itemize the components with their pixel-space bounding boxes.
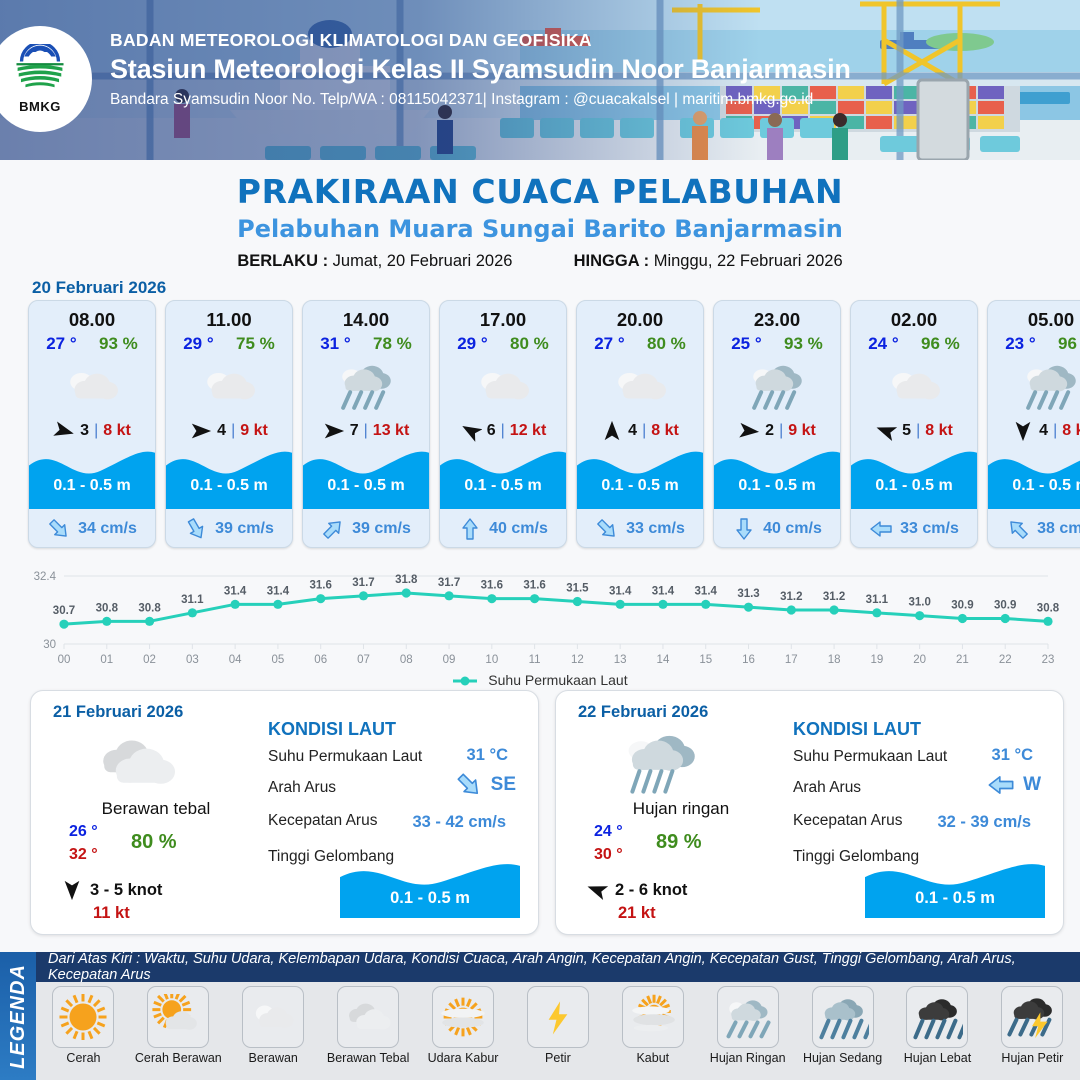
card-temperature: 25 °: [731, 334, 761, 354]
wind-direction-arrow: [1012, 420, 1034, 442]
card-humidity: 96 %: [1058, 334, 1080, 354]
card-wind: 3 | 8 kt: [29, 420, 155, 442]
svg-text:30: 30: [43, 639, 56, 651]
legend-strip: LEGENDA Dari Atas Kiri : Waktu, Suhu Uda…: [0, 952, 1080, 1080]
svg-text:31.4: 31.4: [652, 585, 675, 597]
svg-text:15: 15: [699, 654, 712, 666]
card-humidity: 93 %: [99, 334, 138, 354]
wave-graphic: [988, 443, 1080, 509]
card-wave-height: 0.1 - 0.5 m: [851, 477, 977, 495]
hourly-card: 05.00 23 ° 96 % 4 | 8 kt 0.1 - 0.5 m: [987, 300, 1080, 548]
card-current-speed: 34 cm/s: [78, 520, 137, 538]
current-direction-arrow: [458, 517, 482, 541]
panel-temp-min: 24 °: [594, 823, 623, 841]
card-wind: 6 | 12 kt: [440, 420, 566, 442]
validity-dates: BERLAKU : Jumat, 20 Februari 2026 HINGGA…: [0, 252, 1080, 271]
card-wind: 4 | 8 kt: [577, 420, 703, 442]
card-current: 39 cm/s: [166, 517, 292, 541]
card-current: 33 cm/s: [577, 517, 703, 541]
card-current-speed: 40 cm/s: [489, 520, 548, 538]
card-current: 34 cm/s: [29, 517, 155, 541]
wind-direction-arrow: [586, 879, 608, 901]
panel-wave-graphic: [865, 856, 1045, 918]
legend-item: Berawan: [226, 986, 321, 1066]
current-direction-arrow: [732, 517, 756, 541]
hourly-card: 14.00 31 ° 78 % 7 | 13 kt 0.1 - 0.5 m: [302, 300, 430, 548]
card-wind-speed: 2: [765, 422, 774, 440]
berlaku-label: BERLAKU :: [237, 252, 328, 270]
svg-text:31.6: 31.6: [481, 580, 503, 592]
panel-wave-height: 0.1 - 0.5 m: [865, 889, 1045, 908]
card-weather-icon: [440, 358, 566, 414]
card-current-speed: 39 cm/s: [215, 520, 274, 538]
svg-text:12: 12: [571, 654, 584, 666]
legend-icon-box: [812, 986, 874, 1048]
card-gust: 9 kt: [788, 422, 816, 440]
card-time: 14.00: [303, 309, 429, 331]
legend-side-text: LEGENDA: [7, 964, 30, 1069]
svg-text:07: 07: [357, 654, 370, 666]
weather-icon-cerah: [57, 994, 109, 1040]
card-weather-icon: [166, 358, 292, 414]
svg-text:02: 02: [143, 654, 156, 666]
legend-icon-box: [432, 986, 494, 1048]
current-direction-arrow: [595, 517, 619, 541]
hourly-card: 08.00 27 ° 93 % 3 | 8 kt 0.1 - 0.5 m: [28, 300, 156, 548]
svg-text:31.1: 31.1: [181, 594, 204, 606]
svg-text:04: 04: [229, 654, 242, 666]
panel-sea-title: KONDISI LAUT: [793, 719, 921, 740]
weather-icon-berawan: [247, 994, 299, 1040]
card-time: 05.00: [988, 309, 1080, 331]
hourly-card: 20.00 27 ° 80 % 4 | 8 kt 0.1 - 0.5 m: [576, 300, 704, 548]
wave-graphic: [340, 856, 520, 918]
wind-direction-arrow: [875, 420, 897, 442]
svg-text:31.2: 31.2: [823, 591, 845, 603]
hourly-card: 23.00 25 ° 93 % 2 | 9 kt 0.1 - 0.5 m: [713, 300, 841, 548]
card-wave-graphic: [714, 443, 840, 509]
card-gust: 8 kt: [1062, 422, 1080, 440]
card-wave-height: 0.1 - 0.5 m: [166, 477, 292, 495]
card-current: 40 cm/s: [714, 517, 840, 541]
svg-text:13: 13: [614, 654, 627, 666]
svg-text:31.3: 31.3: [737, 588, 759, 600]
card-temperature: 27 °: [46, 334, 76, 354]
panel-label-sst: Suhu Permukaan Laut: [268, 748, 422, 766]
svg-text:09: 09: [443, 654, 456, 666]
panel-current-speed-value: 33 - 42 cm/s: [412, 813, 506, 832]
card-weather-icon: [303, 358, 429, 414]
card-wind: 5 | 8 kt: [851, 420, 977, 442]
card-current: 39 cm/s: [303, 517, 429, 541]
wind-direction-arrow: [323, 420, 345, 442]
panel-condition: Hujan ringan: [556, 799, 806, 819]
svg-text:30.8: 30.8: [96, 602, 119, 614]
card-separator: |: [1053, 422, 1057, 440]
hourly-card: 11.00 29 ° 75 % 4 | 9 kt 0.1 - 0.5 m: [165, 300, 293, 548]
card-separator: |: [364, 422, 368, 440]
svg-text:08: 08: [400, 654, 413, 666]
wind-direction-arrow: [61, 879, 83, 901]
card-wave-height: 0.1 - 0.5 m: [714, 477, 840, 495]
card-current-speed: 38 cm/s: [1037, 520, 1080, 538]
contact-info: Bandara Syamsudin Noor No. Telp/WA : 081…: [110, 91, 851, 109]
svg-text:19: 19: [870, 654, 883, 666]
daily-panel: 21 Februari 2026 Berawan tebal 26 ° 32 °…: [30, 690, 539, 935]
card-separator: |: [231, 422, 235, 440]
card-wind-speed: 7: [350, 422, 359, 440]
panel-sea-title: KONDISI LAUT: [268, 719, 396, 740]
weather-icon-hujan-lebat: [911, 994, 963, 1040]
card-wave-height: 0.1 - 0.5 m: [440, 477, 566, 495]
legend-item-label: Cerah Berawan: [135, 1052, 222, 1066]
card-temperature: 23 °: [1005, 334, 1035, 354]
panel-wave-height: 0.1 - 0.5 m: [340, 889, 520, 908]
card-time: 08.00: [29, 309, 155, 331]
current-direction-arrow: [47, 517, 71, 541]
svg-text:31.4: 31.4: [224, 585, 247, 597]
legend-item: Hujan Ringan: [700, 986, 795, 1066]
current-direction-arrow: [1006, 517, 1030, 541]
legend-icon-box: [1001, 986, 1063, 1048]
legend-icon-box: [622, 986, 684, 1048]
legend-icon-box: [527, 986, 589, 1048]
current-direction-arrow: [455, 771, 483, 799]
legend-icon-box: [147, 986, 209, 1048]
card-humidity: 93 %: [784, 334, 823, 354]
legend-icon-box: [52, 986, 114, 1048]
panel-wind-range: 2 - 6 knot: [615, 881, 687, 900]
card-current-speed: 33 cm/s: [900, 520, 959, 538]
legend-icon-box: [337, 986, 399, 1048]
svg-text:22: 22: [999, 654, 1012, 666]
weather-icon-hujan-ringan: [722, 994, 774, 1040]
sst-chart-svg: 32.43030.70030.80130.80231.10331.40431.4…: [14, 558, 1066, 678]
card-wave-graphic: [988, 443, 1080, 509]
card-gust: 9 kt: [240, 422, 268, 440]
hourly-card: 17.00 29 ° 80 % 6 | 12 kt 0.1 - 0.5 m: [439, 300, 567, 548]
svg-text:30.7: 30.7: [53, 605, 75, 617]
svg-text:01: 01: [100, 654, 113, 666]
svg-text:30.9: 30.9: [994, 600, 1016, 612]
weather-icon-berawan: [196, 360, 262, 412]
svg-text:17: 17: [785, 654, 798, 666]
card-wave-graphic: [577, 443, 703, 509]
card-time: 17.00: [440, 309, 566, 331]
card-temperature: 29 °: [183, 334, 213, 354]
card-humidity: 96 %: [921, 334, 960, 354]
legend-item-label: Udara Kabur: [428, 1052, 499, 1066]
wind-direction-arrow: [190, 420, 212, 442]
card-wave-height: 0.1 - 0.5 m: [988, 477, 1080, 495]
weather-icon-hujan-sedang: [817, 994, 869, 1040]
svg-text:30.9: 30.9: [951, 600, 973, 612]
card-separator: |: [916, 422, 920, 440]
legend-side-label: LEGENDA: [0, 952, 36, 1080]
svg-text:31.7: 31.7: [352, 577, 374, 589]
bmkg-logo-text: BMKG: [19, 99, 61, 114]
wave-graphic: [166, 443, 293, 509]
card-wave-height: 0.1 - 0.5 m: [29, 477, 155, 495]
svg-text:23: 23: [1042, 654, 1055, 666]
current-direction-arrow: [869, 517, 893, 541]
wind-direction-arrow: [601, 420, 623, 442]
legend-icon-box: [242, 986, 304, 1048]
weather-icon-berawan-tebal: [91, 729, 181, 797]
card-wave-height: 0.1 - 0.5 m: [303, 477, 429, 495]
card-wind-speed: 5: [902, 422, 911, 440]
current-direction-arrow: [321, 517, 345, 541]
svg-text:11: 11: [529, 654, 541, 666]
daily-panels: 21 Februari 2026 Berawan tebal 26 ° 32 °…: [30, 690, 1064, 935]
svg-text:18: 18: [828, 654, 841, 666]
page-subtitle: Pelabuhan Muara Sungai Barito Banjarmasi…: [0, 215, 1080, 243]
svg-text:31.4: 31.4: [695, 585, 718, 597]
weather-icon-hujan-ringan: [616, 729, 706, 797]
wave-graphic: [851, 443, 978, 509]
svg-text:31.6: 31.6: [310, 580, 332, 592]
agency-name: BADAN METEOROLOGI KLIMATOLOGI DAN GEOFIS…: [110, 30, 851, 51]
svg-text:30.8: 30.8: [138, 602, 161, 614]
card-current: 40 cm/s: [440, 517, 566, 541]
panel-current-dir-label: SE: [491, 774, 516, 796]
page-title: PRAKIRAAN CUACA PELABUHAN: [0, 172, 1080, 211]
panel-gust: 11 kt: [93, 904, 130, 923]
legend-item: Hujan Petir: [985, 986, 1080, 1066]
legend-item-label: Hujan Sedang: [803, 1052, 882, 1066]
page-header: BMKG BADAN METEOROLOGI KLIMATOLOGI DAN G…: [0, 0, 1080, 160]
card-temperature: 31 °: [320, 334, 350, 354]
card-current-speed: 39 cm/s: [352, 520, 411, 538]
svg-text:20: 20: [913, 654, 926, 666]
panel-temp-max: 30 °: [594, 846, 623, 864]
berlaku-value: Jumat, 20 Februari 2026: [333, 252, 513, 270]
card-humidity: 75 %: [236, 334, 275, 354]
card-current: 33 cm/s: [851, 517, 977, 541]
svg-text:31.2: 31.2: [780, 591, 802, 603]
weather-icon-berawan: [881, 360, 947, 412]
panel-current-dir-label: W: [1023, 774, 1041, 796]
legend-item: Berawan Tebal: [321, 986, 416, 1066]
card-wind: 4 | 8 kt: [988, 420, 1080, 442]
wave-graphic: [29, 443, 156, 509]
panel-humidity: 80 %: [131, 831, 177, 854]
panel-date: 21 Februari 2026: [53, 703, 183, 722]
card-temperature: 24 °: [868, 334, 898, 354]
svg-text:31.4: 31.4: [609, 585, 632, 597]
weather-icon-berawan: [607, 360, 673, 412]
svg-text:06: 06: [314, 654, 327, 666]
svg-text:30.8: 30.8: [1037, 602, 1060, 614]
card-separator: |: [501, 422, 505, 440]
legend-item-label: Hujan Petir: [1001, 1052, 1063, 1066]
card-separator: |: [94, 422, 98, 440]
chart-legend-label: Suhu Permukaan Laut: [488, 672, 627, 688]
hourly-card: 02.00 24 ° 96 % 5 | 8 kt 0.1 - 0.5 m: [850, 300, 978, 548]
weather-icon-udara-kabur: [437, 994, 489, 1040]
panel-label-current-speed: Kecepatan Arus: [793, 812, 902, 830]
panel-temp-max: 32 °: [69, 846, 98, 864]
svg-text:16: 16: [742, 654, 755, 666]
wave-graphic: [714, 443, 841, 509]
chart-legend-swatch: [452, 675, 478, 687]
card-gust: 12 kt: [510, 422, 546, 440]
legend-item-label: Kabut: [636, 1052, 669, 1066]
card-wind-speed: 4: [1039, 422, 1048, 440]
card-wind-speed: 6: [487, 422, 496, 440]
wave-graphic: [303, 443, 430, 509]
card-wave-height: 0.1 - 0.5 m: [577, 477, 703, 495]
wind-direction-arrow: [460, 420, 482, 442]
weather-icon-hujan-ringan: [1018, 360, 1080, 412]
wind-direction-arrow: [738, 420, 760, 442]
card-separator: |: [779, 422, 783, 440]
current-direction-arrow: [987, 771, 1015, 799]
panel-current-speed-value: 32 - 39 cm/s: [937, 813, 1031, 832]
card-separator: |: [642, 422, 646, 440]
hingga-label: HINGGA :: [574, 252, 649, 270]
card-wind: 7 | 13 kt: [303, 420, 429, 442]
hingga-value: Minggu, 22 Februari 2026: [654, 252, 843, 270]
card-wave-graphic: [851, 443, 977, 509]
card-wind-speed: 4: [217, 422, 226, 440]
card-weather-icon: [851, 358, 977, 414]
card-weather-icon: [988, 358, 1080, 414]
svg-text:21: 21: [956, 654, 969, 666]
card-time: 23.00: [714, 309, 840, 331]
weather-icon-petir: [532, 994, 584, 1040]
card-weather-icon: [714, 358, 840, 414]
card-wind-speed: 4: [628, 422, 637, 440]
legend-item-label: Hujan Ringan: [710, 1052, 786, 1066]
panel-gust: 21 kt: [618, 904, 656, 923]
card-wave-graphic: [29, 443, 155, 509]
card-wind: 4 | 9 kt: [166, 420, 292, 442]
station-name: Stasiun Meteorologi Kelas II Syamsudin N…: [110, 54, 851, 85]
card-humidity: 80 %: [510, 334, 549, 354]
weather-icon-hujan-ringan: [744, 360, 810, 412]
panel-current-direction: SE: [455, 771, 516, 799]
panel-wind-range: 3 - 5 knot: [90, 881, 162, 900]
title-block: PRAKIRAAN CUACA PELABUHAN Pelabuhan Muar…: [0, 160, 1080, 271]
legend-item-label: Cerah: [66, 1052, 100, 1066]
card-time: 20.00: [577, 309, 703, 331]
svg-text:31.8: 31.8: [395, 574, 418, 586]
hourly-forecast-row: 08.00 27 ° 93 % 3 | 8 kt 0.1 - 0.5 m: [28, 300, 1080, 548]
svg-text:31.1: 31.1: [866, 594, 889, 606]
legend-item: Cerah: [36, 986, 131, 1066]
weather-icon-berawan-tebal: [342, 994, 394, 1040]
panel-condition: Berawan tebal: [31, 799, 281, 819]
panel-weather-icon: [616, 729, 706, 802]
weather-icon-cerah-berawan: [152, 994, 204, 1040]
card-current-speed: 40 cm/s: [763, 520, 822, 538]
panel-wave-graphic: [340, 856, 520, 918]
svg-text:31.5: 31.5: [566, 583, 589, 595]
panel-label-sst: Suhu Permukaan Laut: [793, 748, 947, 766]
bmkg-logo-mark: [12, 44, 68, 98]
legend-item: Petir: [510, 986, 605, 1066]
daily-panel: 22 Februari 2026 Hujan ringan 24 ° 30 ° …: [555, 690, 1064, 935]
legend-item-label: Berawan: [249, 1052, 298, 1066]
legend-item-label: Petir: [545, 1052, 571, 1066]
svg-text:10: 10: [485, 654, 498, 666]
weather-icon-hujan-petir: [1006, 994, 1058, 1040]
weather-icon-berawan: [470, 360, 536, 412]
card-current-speed: 33 cm/s: [626, 520, 685, 538]
wave-graphic: [440, 443, 567, 509]
panel-humidity: 89 %: [656, 831, 702, 854]
legend-item: Hujan Lebat: [890, 986, 985, 1066]
panel-label-current-dir: Arah Arus: [268, 779, 336, 797]
card-wind: 2 | 9 kt: [714, 420, 840, 442]
card-humidity: 78 %: [373, 334, 412, 354]
card-temperature: 29 °: [457, 334, 487, 354]
panel-sst-value: 31 °C: [992, 746, 1033, 765]
panel-wind: 2 - 6 knot: [586, 879, 687, 901]
chart-legend: Suhu Permukaan Laut: [0, 672, 1080, 688]
legend-item-label: Hujan Lebat: [904, 1052, 971, 1066]
wind-direction-arrow: [53, 420, 75, 442]
card-wave-graphic: [166, 443, 292, 509]
legend-item: Cerah Berawan: [131, 986, 226, 1066]
card-gust: 13 kt: [373, 422, 409, 440]
weather-icon-berawan: [59, 360, 125, 412]
card-gust: 8 kt: [925, 422, 953, 440]
svg-text:03: 03: [186, 654, 199, 666]
card-time: 11.00: [166, 309, 292, 331]
panel-label-current-speed: Kecepatan Arus: [268, 812, 377, 830]
panel-temp-min: 26 °: [69, 823, 98, 841]
legend-caption: Dari Atas Kiri : Waktu, Suhu Udara, Kele…: [36, 952, 1080, 982]
svg-text:05: 05: [272, 654, 285, 666]
card-wave-graphic: [303, 443, 429, 509]
card-current: 38 cm/s: [988, 517, 1080, 541]
svg-text:32.4: 32.4: [34, 571, 57, 583]
legend-item-label: Berawan Tebal: [327, 1052, 409, 1066]
svg-text:00: 00: [58, 654, 71, 666]
weather-icon-kabut: [627, 994, 679, 1040]
card-weather-icon: [29, 358, 155, 414]
legend-item: Udara Kabur: [416, 986, 511, 1066]
svg-text:31.0: 31.0: [908, 597, 930, 609]
wave-graphic: [865, 856, 1045, 918]
legend-icon-box: [717, 986, 779, 1048]
svg-text:31.7: 31.7: [438, 577, 460, 589]
card-gust: 8 kt: [103, 422, 131, 440]
panel-current-direction: W: [987, 771, 1041, 799]
current-direction-arrow: [184, 517, 208, 541]
svg-text:14: 14: [657, 654, 670, 666]
legend-item: Kabut: [605, 986, 700, 1066]
hourly-day-label: 20 Februari 2026: [32, 278, 166, 298]
panel-sst-value: 31 °C: [467, 746, 508, 765]
card-gust: 8 kt: [651, 422, 679, 440]
legend-icon-box: [906, 986, 968, 1048]
card-time: 02.00: [851, 309, 977, 331]
svg-text:31.4: 31.4: [267, 585, 290, 597]
panel-date: 22 Februari 2026: [578, 703, 708, 722]
card-weather-icon: [577, 358, 703, 414]
panel-label-current-dir: Arah Arus: [793, 779, 861, 797]
svg-text:31.6: 31.6: [523, 580, 545, 592]
card-humidity: 80 %: [647, 334, 686, 354]
card-wave-graphic: [440, 443, 566, 509]
sst-chart: 32.43030.70030.80130.80231.10331.40431.4…: [14, 558, 1066, 678]
weather-icon-hujan-ringan: [333, 360, 399, 412]
card-wind-speed: 3: [80, 422, 89, 440]
wave-graphic: [577, 443, 704, 509]
